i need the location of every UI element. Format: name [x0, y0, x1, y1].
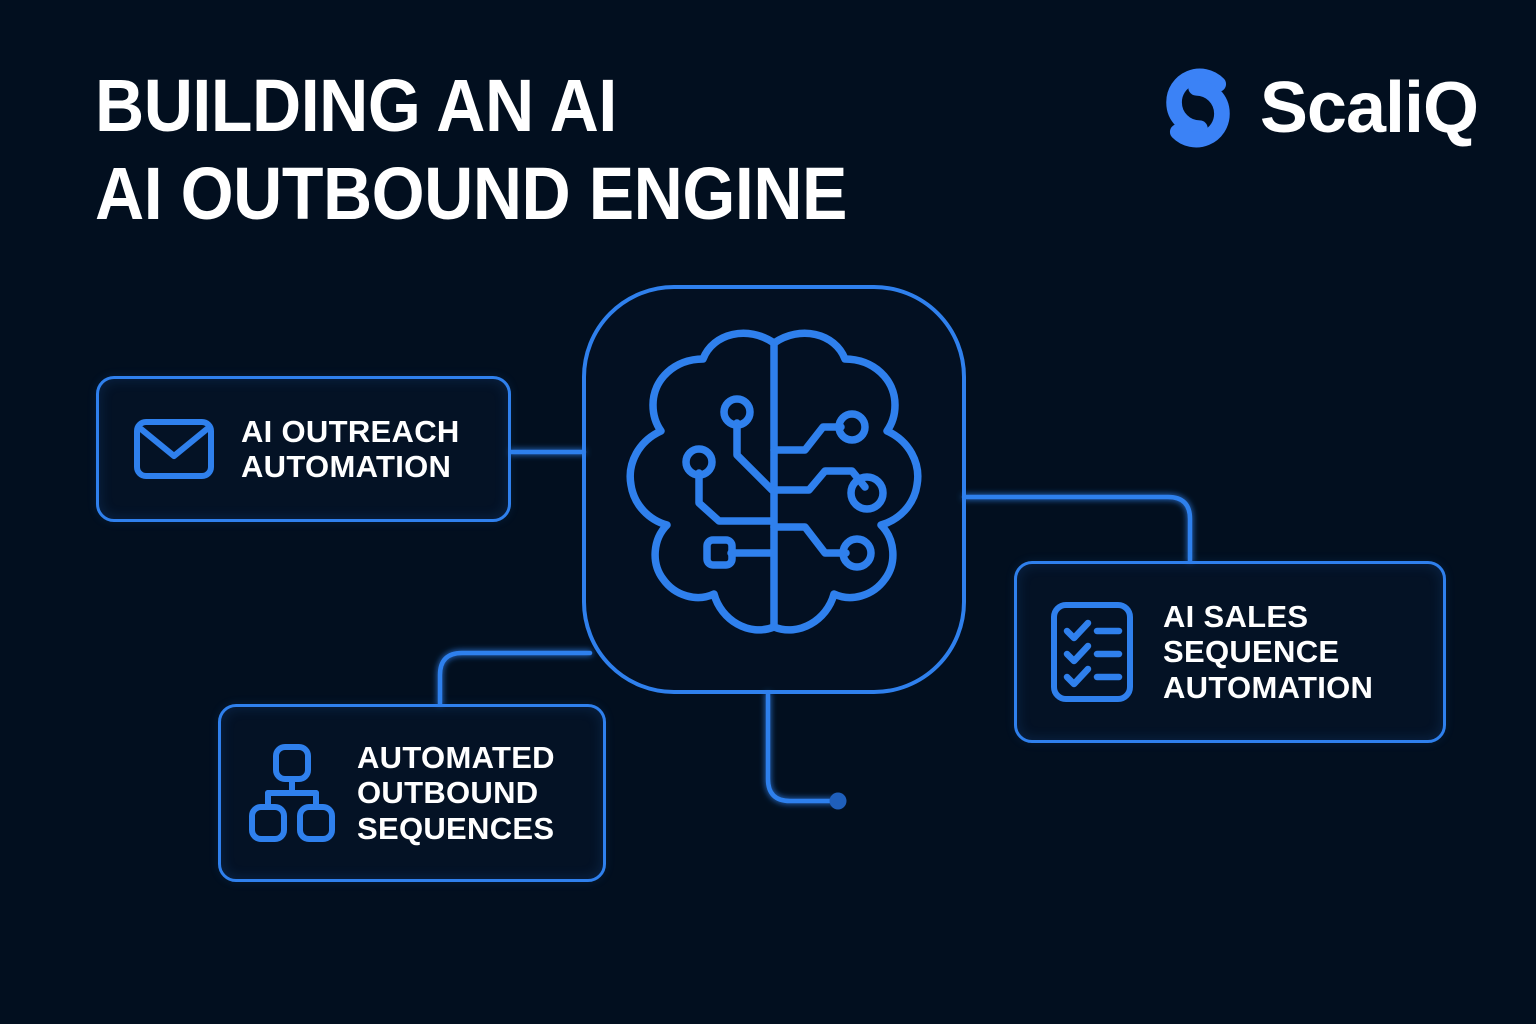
- card-label-ai-outreach-automation: AI OUTREACH AUTOMATION: [241, 414, 460, 485]
- card-ai-outreach-automation[interactable]: AI OUTREACH AUTOMATION: [96, 376, 511, 522]
- logo-wordmark: ScaliQ: [1260, 72, 1478, 144]
- envelope-icon: [133, 418, 215, 480]
- title-line-1: BUILDING AN AI: [95, 62, 847, 150]
- checklist-icon: [1049, 600, 1135, 704]
- ai-brain-container[interactable]: [582, 285, 966, 694]
- card-label-automated-outbound-sequences: AUTOMATED OUTBOUND SEQUENCES: [357, 740, 555, 846]
- connector-trailing-node: [830, 793, 847, 810]
- card-automated-outbound-sequences[interactable]: AUTOMATED OUTBOUND SEQUENCES: [218, 704, 606, 882]
- card-label-ai-sales-sequence-automation: AI SALES SEQUENCE AUTOMATION: [1163, 599, 1373, 705]
- page-title: BUILDING AN AI AI OUTBOUND ENGINE: [95, 62, 912, 238]
- scaliq-s-mark-icon: [1152, 62, 1244, 154]
- card-ai-sales-sequence-automation[interactable]: AI SALES SEQUENCE AUTOMATION: [1014, 561, 1446, 743]
- hierarchy-icon: [247, 742, 335, 844]
- title-line-2: AI OUTBOUND ENGINE: [95, 150, 847, 238]
- ai-brain-circuit-icon: [609, 315, 939, 665]
- infographic-canvas: BUILDING AN AI AI OUTBOUND ENGINE ScaliQ: [0, 0, 1536, 1024]
- connector-center-to-trail: [768, 694, 838, 801]
- connector-center-to-sequences: [440, 653, 590, 704]
- connector-center-to-sales: [964, 497, 1190, 561]
- brand-logo[interactable]: ScaliQ: [1152, 62, 1478, 154]
